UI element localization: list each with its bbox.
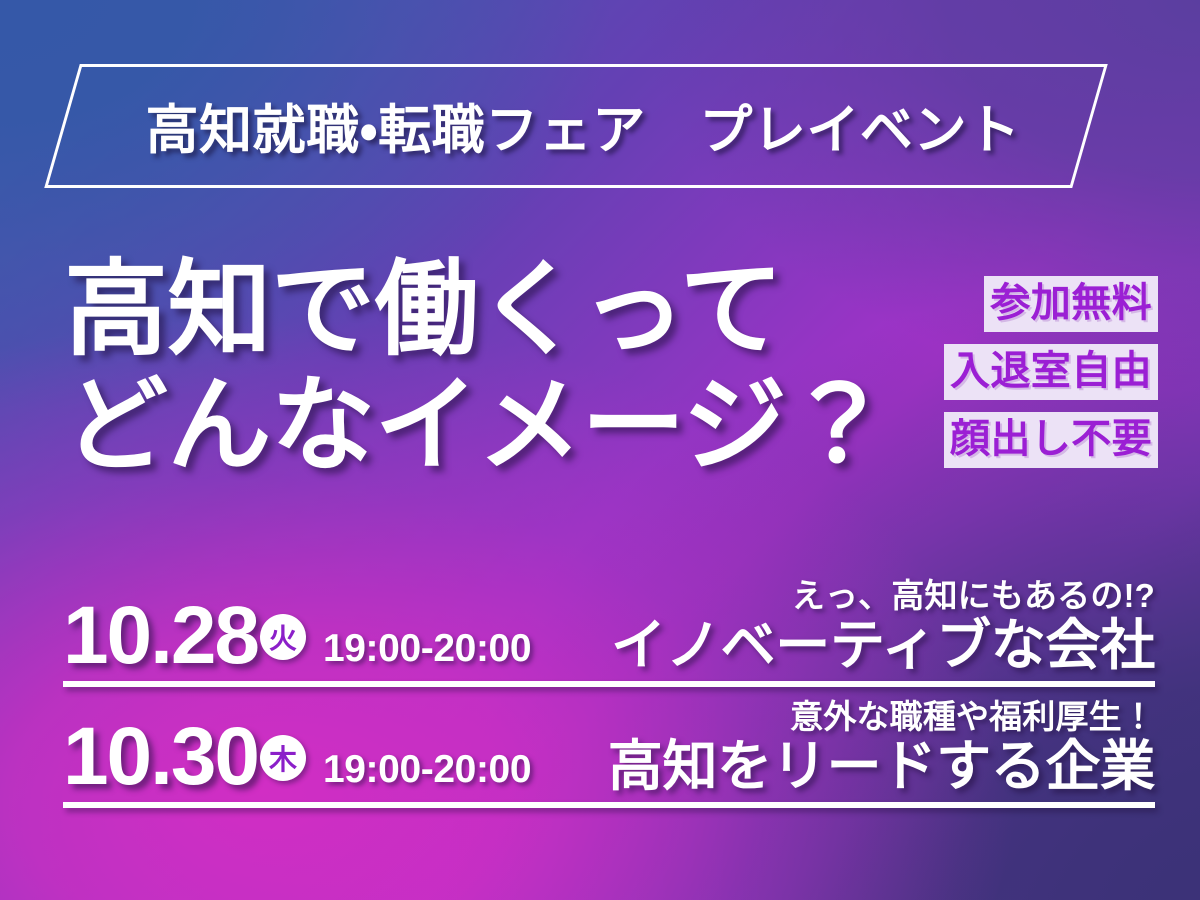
topic: えっ、高知にもあるの!? イノベーティブな会社 [611, 579, 1155, 673]
headline-line-2: どんなイメージ？ [64, 368, 884, 484]
schedule-list: 10.28 火 19:00-20:00 えっ、高知にもあるの!? イノベーティブ… [63, 566, 1155, 808]
badge-camera-off-ok: 顔出し不要 [944, 412, 1158, 468]
schedule-row: 10.28 火 19:00-20:00 えっ、高知にもあるの!? イノベーティブ… [63, 566, 1155, 681]
event-time: 19:00-20:00 [323, 627, 531, 671]
event-time: 19:00-20:00 [323, 748, 531, 792]
header-band-title: 高知就職・転職フェア プレイベント [62, 64, 1090, 188]
headline: 高知で働くって どんなイメージ？ [64, 252, 884, 485]
topic-title: イノベーティブな会社 [611, 617, 1155, 673]
topic: 意外な職種や福利厚生！ 高知をリードする企業 [608, 700, 1155, 794]
badge-list: 参加無料 入退室自由 顔出し不要 [944, 276, 1158, 468]
event-poster: 高知就職・転職フェア プレイベント 高知で働くって どんなイメージ？ 参加無料 … [0, 0, 1200, 900]
badge-free-entry-exit: 入退室自由 [944, 344, 1158, 400]
date-block: 10.30 木 [63, 719, 306, 794]
date-block: 10.28 火 [63, 598, 306, 673]
topic-subtitle: えっ、高知にもあるの!? [611, 579, 1155, 614]
row-divider [63, 802, 1155, 808]
header-band: 高知就職・転職フェア プレイベント [62, 64, 1090, 188]
badge-free-admission: 参加無料 [984, 276, 1158, 332]
schedule-row: 10.30 木 19:00-20:00 意外な職種や福利厚生！ 高知をリードする… [63, 687, 1155, 802]
topic-subtitle: 意外な職種や福利厚生！ [608, 700, 1155, 735]
weekday-badge-icon: 火 [260, 614, 306, 660]
headline-line-1: 高知で働くって [64, 252, 884, 368]
event-date: 10.28 [63, 598, 258, 673]
event-date: 10.30 [63, 719, 258, 794]
weekday-badge-icon: 木 [260, 735, 306, 781]
topic-title: 高知をリードする企業 [608, 738, 1155, 794]
